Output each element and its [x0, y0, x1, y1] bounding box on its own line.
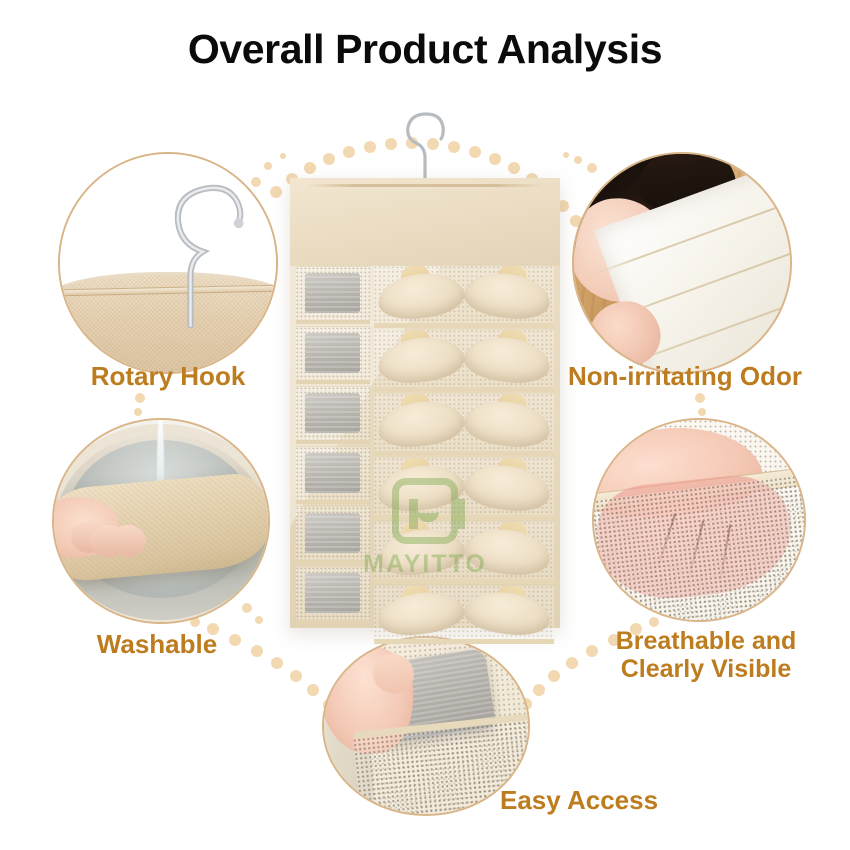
small-pocket: [296, 386, 370, 444]
large-pocket: [374, 330, 554, 392]
large-pocket: [374, 394, 554, 456]
small-pocket: [296, 326, 370, 384]
feature-label-rotary-hook: Rotary Hook: [48, 362, 288, 391]
easy-access-photo: [322, 636, 530, 816]
feature-label-non-irritating-odor: Non-irritating Odor: [552, 362, 818, 391]
breathable-photo: [592, 418, 806, 622]
product-hook-icon: [394, 108, 456, 186]
feature-label-easy-access: Easy Access: [500, 786, 710, 815]
small-pocket: [296, 506, 370, 564]
rotary-hook-icon: [155, 180, 263, 328]
rotary-hook-photo: [58, 152, 278, 374]
infographic-canvas: Overall Product Analysis: [0, 0, 850, 850]
washable-photo: [52, 418, 270, 624]
large-pocket: [374, 458, 554, 520]
product-image: MAYITTO: [290, 108, 560, 638]
large-pocket: [374, 266, 554, 328]
product-body: MAYITTO: [290, 178, 560, 628]
product-large-pockets: [374, 266, 554, 622]
page-title: Overall Product Analysis: [0, 26, 850, 73]
large-pocket: [374, 586, 554, 644]
large-pocket: [374, 522, 554, 584]
product-small-pockets: [296, 266, 370, 622]
small-pocket: [296, 446, 370, 504]
small-pocket: [296, 266, 370, 324]
feature-label-breathable-clearly-visible: Breathable and Clearly Visible: [586, 628, 826, 683]
feature-label-washable: Washable: [42, 630, 272, 659]
small-pocket: [296, 566, 370, 624]
odor-photo: [572, 152, 792, 374]
product-top-panel: [290, 178, 560, 266]
